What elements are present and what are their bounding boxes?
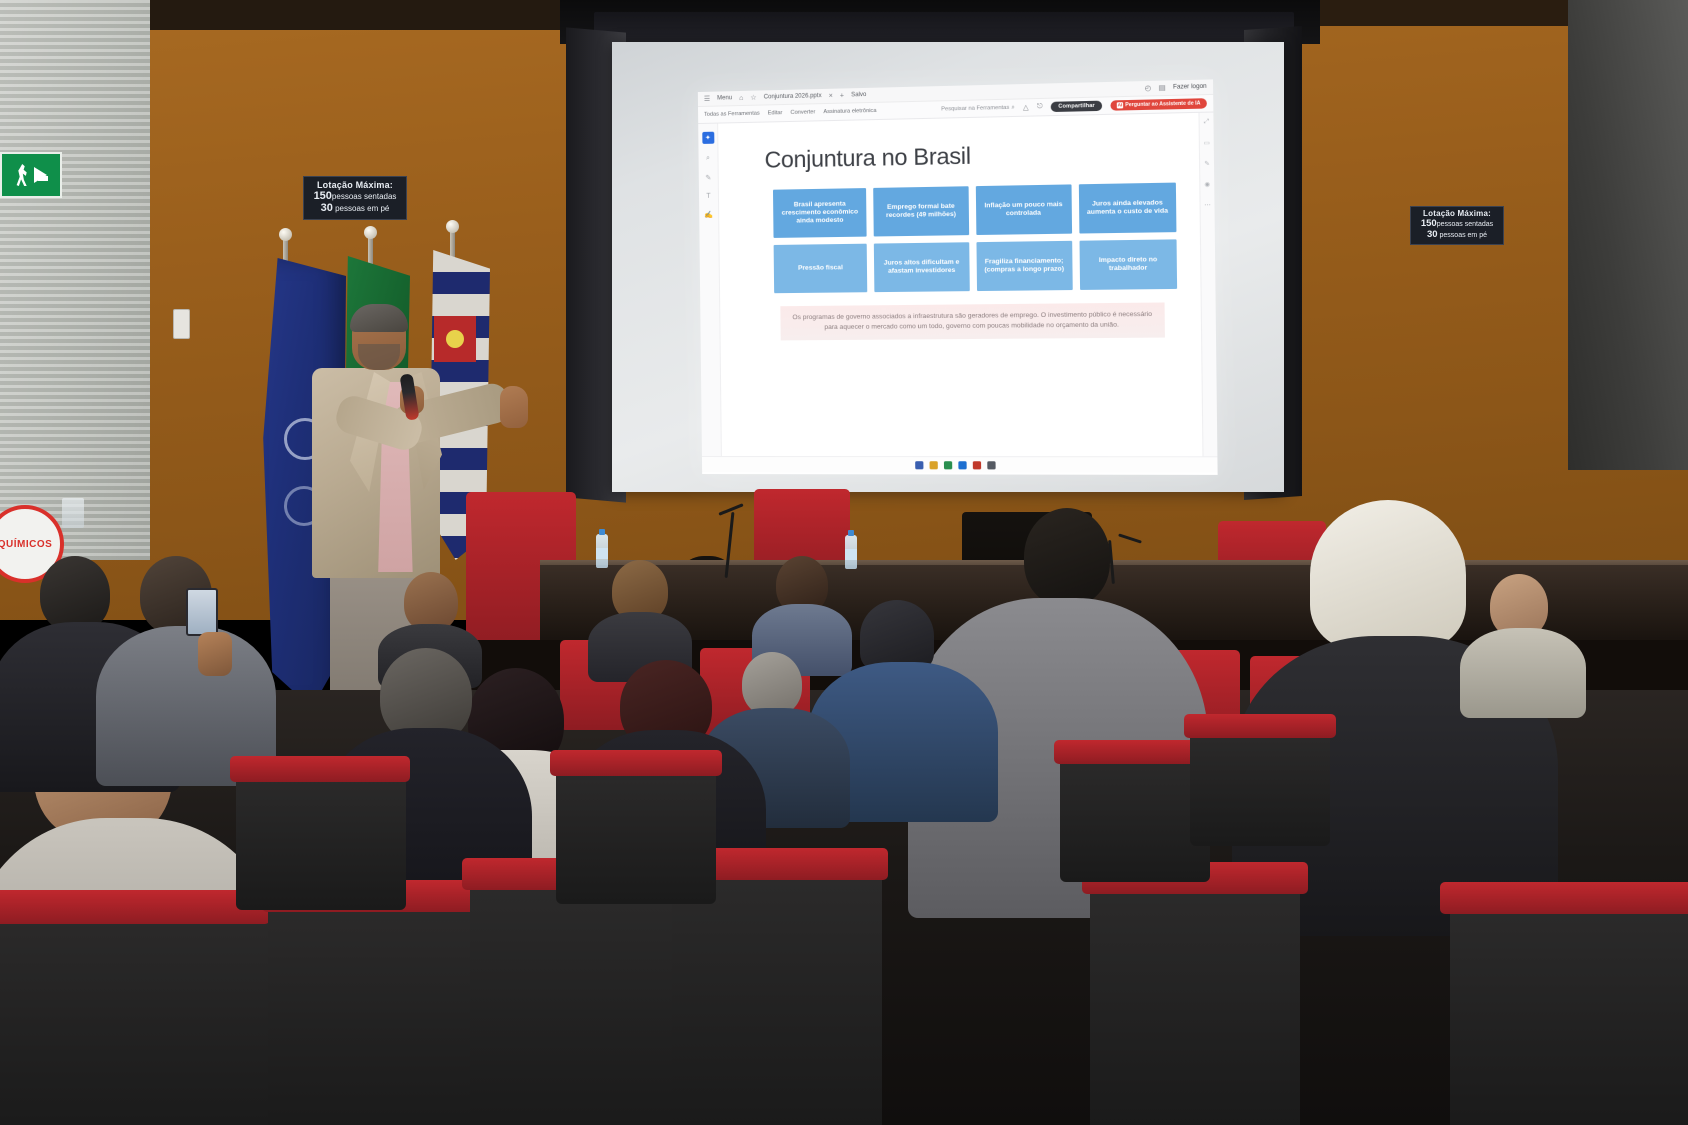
search-icon[interactable]: ⌕ bbox=[1011, 104, 1014, 111]
blind-slats bbox=[0, 0, 150, 560]
bell-icon[interactable]: △ bbox=[1023, 103, 1029, 111]
home-icon[interactable]: ⌂ bbox=[739, 94, 743, 101]
ai-assistant-label: Perguntar ao Assistente de IA bbox=[1125, 100, 1200, 108]
foreground-seat bbox=[1450, 900, 1688, 1125]
taskbar-app-icon[interactable] bbox=[958, 461, 966, 469]
window-icon[interactable]: ▤ bbox=[1158, 84, 1165, 92]
slide-cell: Impacto direto no trabalhador bbox=[1079, 239, 1177, 290]
toolbar-spacer bbox=[885, 110, 933, 111]
add-tab-icon[interactable]: + bbox=[840, 92, 844, 99]
saved-status: Salvo bbox=[851, 92, 866, 98]
search-placeholder[interactable]: Pesquisar na Ferramentas bbox=[941, 105, 1009, 113]
foreground-seat-top bbox=[1440, 882, 1688, 914]
water-bottle bbox=[596, 534, 608, 568]
toolbar-item-all-tools[interactable]: Todas as Ferramentas bbox=[704, 111, 760, 118]
running-man-icon bbox=[16, 164, 30, 186]
capacity-sign-right: Lotação Máxima: 150pessoas sentadas 30 p… bbox=[1410, 206, 1504, 245]
foreground-seat bbox=[1090, 880, 1300, 1125]
mid-seat bbox=[236, 770, 406, 910]
slide-grid-row-2: Pressão fiscal Juros altos dificultam e … bbox=[774, 239, 1178, 293]
capacity-seated-text: pessoas sentadas bbox=[332, 192, 397, 201]
audience-head bbox=[404, 572, 458, 632]
capacity-sign-left: Lotação Máxima: 150pessoas sentadas 30 p… bbox=[303, 176, 407, 220]
app-body: ✦ ⌕ ✎ T ✍ Conjuntura no Brasil Brasil ap… bbox=[698, 113, 1217, 457]
capacity-standing-count: 30 bbox=[321, 202, 333, 214]
ai-chip-icon: AI bbox=[1117, 102, 1123, 108]
emergency-exit-icon bbox=[0, 152, 62, 198]
taskbar-app-icon[interactable] bbox=[987, 461, 995, 469]
close-tab-icon[interactable]: × bbox=[829, 92, 833, 99]
search-icon[interactable]: ⌕ bbox=[706, 155, 710, 163]
ai-assistant-icon[interactable]: ✦ bbox=[702, 132, 714, 144]
audience-hand bbox=[198, 632, 232, 676]
flag-emblem bbox=[446, 330, 464, 348]
bottle-label bbox=[596, 548, 608, 559]
slide-cell: Brasil apresenta crescimento econômico a… bbox=[773, 188, 867, 238]
wall-right-strip bbox=[1290, 0, 1570, 26]
edit-pencil-icon[interactable]: ✎ bbox=[705, 174, 711, 182]
slide-cell: Fragiliza financiamento; (compras a long… bbox=[976, 241, 1073, 291]
speaker-thumbs-up-hand bbox=[500, 386, 528, 428]
capacity-seated-count-right: 150 bbox=[1421, 218, 1437, 229]
foreground-seat bbox=[470, 876, 702, 1125]
capacity-seated-count: 150 bbox=[314, 190, 332, 202]
slide-cell: Inflação um pouco mais controlada bbox=[975, 184, 1072, 235]
speaker-hair bbox=[350, 304, 408, 332]
capacity-line-2: 30 pessoas em pé bbox=[309, 202, 401, 214]
fill-sign-icon[interactable]: ✎ bbox=[1204, 160, 1209, 167]
capacity-title: Lotação Máxima: bbox=[309, 180, 401, 190]
bottle-label bbox=[845, 549, 857, 560]
flagpole-finial bbox=[446, 220, 459, 233]
slide-cell: Pressão fiscal bbox=[774, 244, 868, 294]
history-icon[interactable]: ◴ bbox=[1145, 84, 1152, 92]
wall-upper-strip bbox=[150, 0, 570, 30]
audience-head bbox=[1024, 508, 1110, 606]
capacity-line-2-right: 30 pessoas em pé bbox=[1416, 230, 1498, 241]
capacity-seated-text-right: pessoas sentadas bbox=[1437, 221, 1493, 228]
water-bottle bbox=[845, 535, 857, 569]
text-icon[interactable]: T bbox=[706, 193, 710, 200]
slide-canvas: Conjuntura no Brasil Brasil apresenta cr… bbox=[718, 113, 1202, 456]
slide-grid-row-1: Brasil apresenta crescimento econômico a… bbox=[773, 183, 1176, 238]
arrow-tail bbox=[38, 176, 48, 181]
mid-seat-top bbox=[1184, 714, 1336, 738]
slide-cell: Juros ainda elevados aumenta o custo de … bbox=[1079, 183, 1177, 234]
light-switch[interactable] bbox=[173, 309, 190, 339]
capacity-standing-count-right: 30 bbox=[1427, 229, 1438, 240]
signature-icon[interactable]: ✍ bbox=[704, 211, 713, 219]
projected-app-window[interactable]: ☰ Menu ⌂ ☆ Conjuntura 2026.pptx × + Salv… bbox=[698, 79, 1218, 475]
drinking-glass bbox=[62, 498, 84, 528]
comment-icon[interactable]: ▭ bbox=[1204, 140, 1210, 147]
left-window-blind bbox=[0, 0, 150, 560]
capacity-line-1: 150pessoas sentadas bbox=[309, 190, 401, 202]
document-tab-title[interactable]: Conjuntura 2026.pptx bbox=[764, 93, 822, 100]
logon-link[interactable]: Fazer logon bbox=[1173, 84, 1207, 91]
taskbar-app-icon[interactable] bbox=[915, 461, 923, 469]
mid-seat bbox=[1060, 752, 1210, 882]
star-icon[interactable]: ☆ bbox=[750, 94, 756, 102]
slide-note-paragraph: Os programas de governo associados a inf… bbox=[780, 302, 1165, 340]
mid-seat-top bbox=[550, 750, 722, 776]
presentation-photo-scene: QUÍMICOS Lotação Máxima: 150pessoas sent… bbox=[0, 0, 1688, 1125]
os-taskbar[interactable] bbox=[702, 456, 1218, 473]
right-wall-panel bbox=[1568, 0, 1688, 470]
ai-assistant-button[interactable]: AI Perguntar ao Assistente de IA bbox=[1110, 98, 1206, 111]
share-button[interactable]: Compartilhar bbox=[1051, 101, 1102, 112]
slide-cell: Emprego formal bate recordes (49 milhões… bbox=[873, 186, 968, 236]
flagpole-finial bbox=[364, 226, 377, 239]
hamburger-menu-icon[interactable]: ☰ bbox=[704, 95, 710, 103]
toolbar-search[interactable]: Pesquisar na Ferramentas ⌕ bbox=[941, 104, 1015, 113]
menubar-spacer bbox=[874, 88, 1138, 94]
audience-head bbox=[742, 652, 802, 716]
flagpole-finial bbox=[279, 228, 292, 241]
toolbar-item-edit[interactable]: Editar bbox=[768, 110, 783, 116]
stamp-icon[interactable]: ◉ bbox=[1204, 181, 1210, 188]
more-icon[interactable]: ⋯ bbox=[1204, 202, 1210, 209]
audience-phone bbox=[186, 588, 218, 636]
expand-icon[interactable]: ⤢ bbox=[1204, 119, 1209, 126]
capacity-standing-text-right: pessoas em pé bbox=[1440, 232, 1487, 239]
foreground-seat bbox=[672, 866, 882, 1125]
menu-label[interactable]: Menu bbox=[717, 95, 732, 101]
mid-seat bbox=[556, 764, 716, 904]
capacity-standing-text: pessoas em pé bbox=[335, 204, 389, 213]
mid-seat-top bbox=[230, 756, 410, 782]
slide-title: Conjuntura no Brasil bbox=[764, 138, 1182, 174]
foreground-seat-top bbox=[0, 890, 270, 924]
toolbar-item-esign[interactable]: Assinatura eletrônica bbox=[823, 108, 876, 115]
taskbar-app-icon[interactable] bbox=[944, 461, 952, 469]
toolbar-item-convert[interactable]: Converter bbox=[790, 109, 815, 116]
audience-shoulders bbox=[1460, 628, 1586, 718]
lock-icon[interactable]: ⎋ bbox=[1037, 103, 1043, 111]
taskbar-app-icon[interactable] bbox=[930, 461, 938, 469]
audience-head-cap bbox=[1310, 500, 1466, 650]
mid-seat bbox=[1190, 726, 1330, 846]
foreground-seat bbox=[0, 905, 280, 1125]
taskbar-app-icon[interactable] bbox=[973, 461, 981, 469]
slide-cell: Juros altos dificultam e afastam investi… bbox=[874, 242, 969, 292]
audience-head bbox=[40, 556, 110, 632]
